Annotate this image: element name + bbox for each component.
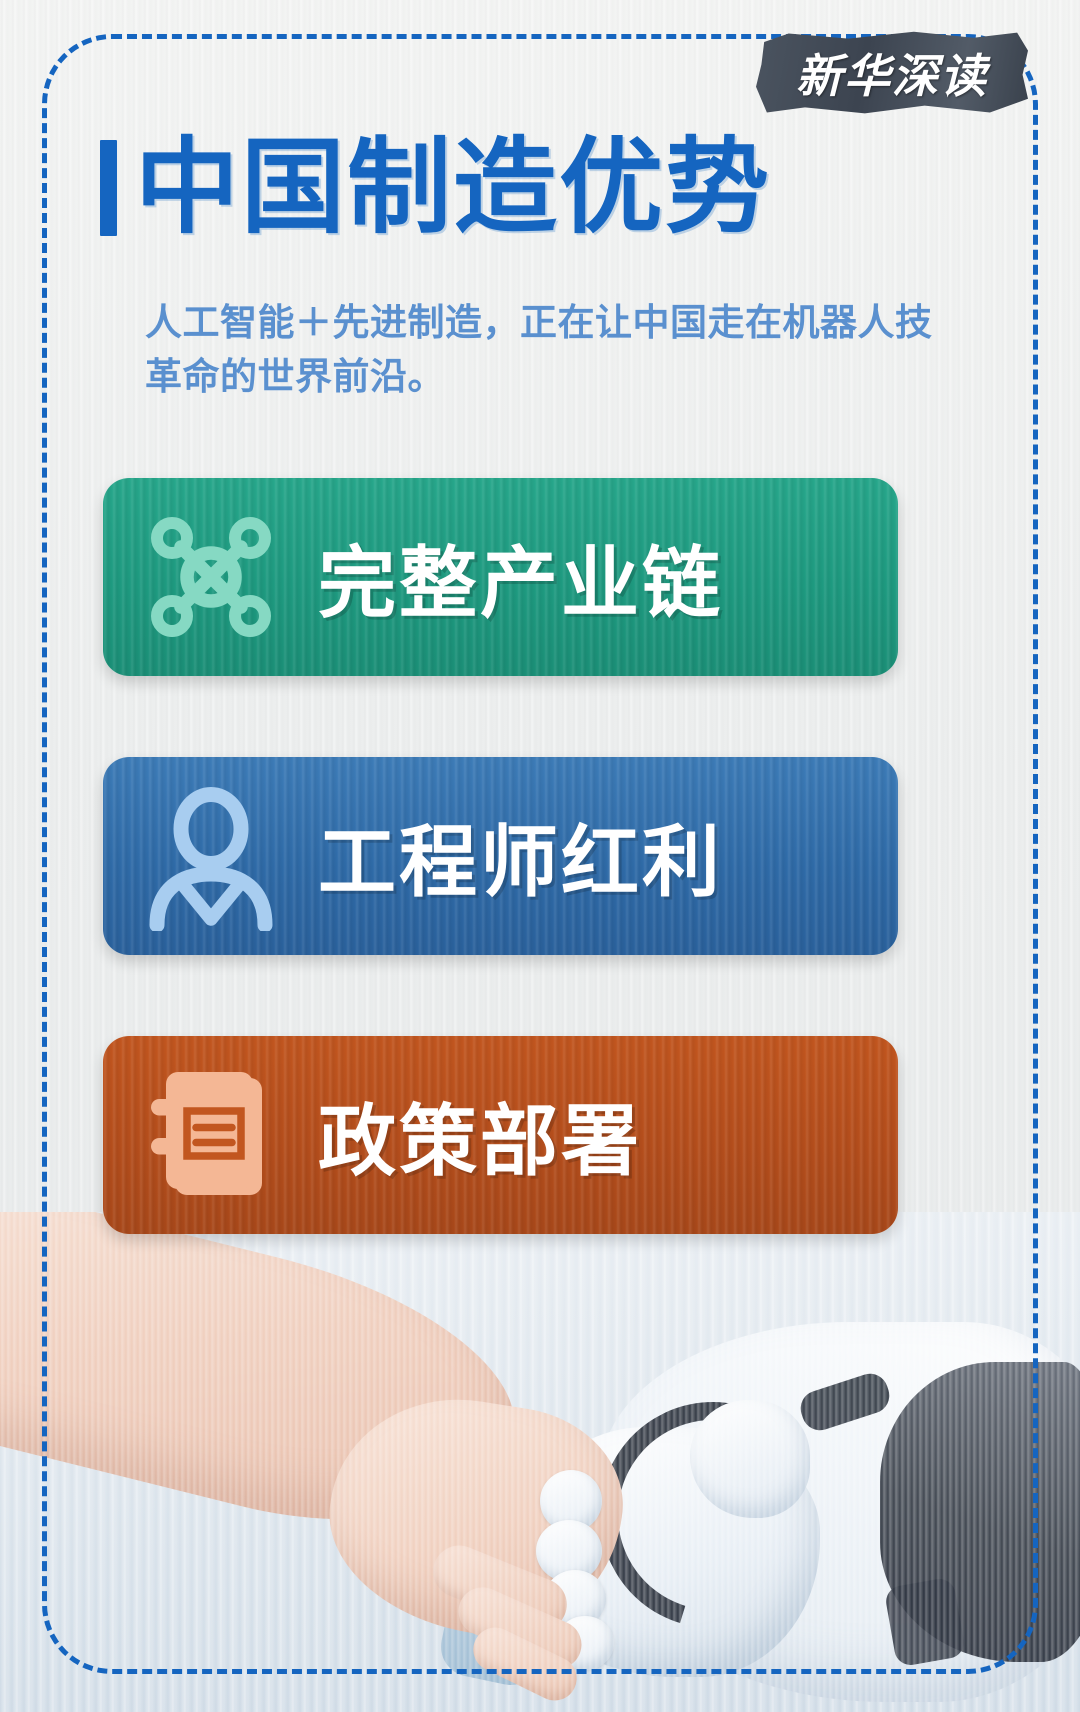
subtitle-line-1: 人工智能＋先进制造，正在让中国走在机器人技 [145,296,895,350]
title-text: 中国制造优势 [135,136,771,240]
advantage-card-complete-industry-chain[interactable]: 完整产业链 [103,478,898,676]
robot-thumb-pad [690,1400,810,1518]
network-nodes-icon [103,502,318,652]
brand-badge-label: 新华深读 [796,40,988,106]
brand-badge: 新华深读 [756,30,1028,116]
person-icon [103,781,318,931]
card-label: 工程师红利 [318,800,723,912]
subtitle-line-2: 革命的世界前沿。 [145,350,895,404]
card-label: 政策部署 [318,1079,642,1191]
advantage-card-engineer-dividend[interactable]: 工程师红利 [103,757,898,955]
robot-vent-lower [884,1577,967,1668]
human-robot-handshake-photo [0,1212,1080,1712]
title-accent-bar [100,140,117,236]
card-label: 完整产业链 [318,521,723,633]
notebook-icon [103,1060,318,1210]
subtitle: 人工智能＋先进制造，正在让中国走在机器人技 革命的世界前沿。 [145,296,895,403]
advantage-card-policy-deployment[interactable]: 政策部署 [103,1036,898,1234]
poster-root: 新华深读 中国制造优势 人工智能＋先进制造，正在让中国走在机器人技 革命的世界前… [0,0,1080,1712]
page-title: 中国制造优势 [100,136,771,240]
